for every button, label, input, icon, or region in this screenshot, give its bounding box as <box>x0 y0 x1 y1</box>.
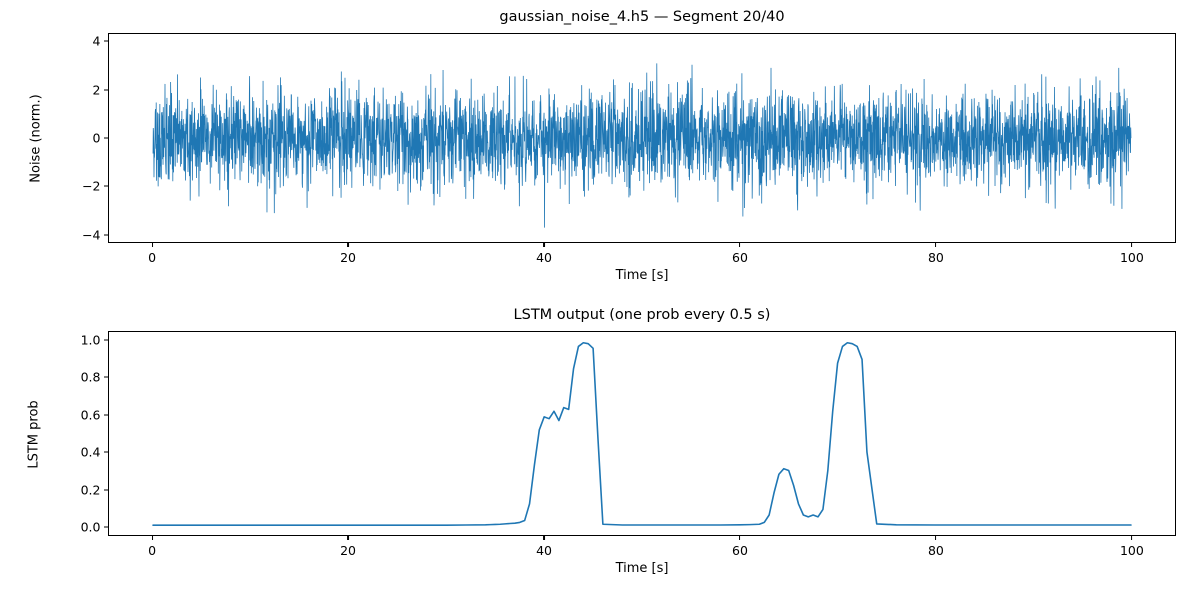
xtick-label: 0 <box>148 543 156 558</box>
ytick-mark <box>104 489 108 490</box>
ytick-0.4: 0.4 <box>81 445 108 460</box>
ytick-label: 0.0 <box>81 520 101 535</box>
xtick-80: 80 <box>928 536 944 558</box>
xtick-40: 40 <box>536 536 552 558</box>
xaxis-ticks-noise: 020406080100 <box>108 243 1176 267</box>
matplotlib-figure: gaussian_noise_4.h5 — Segment 20/40 0204… <box>0 0 1200 600</box>
xtick-0: 0 <box>148 536 156 558</box>
xtick-label: 80 <box>928 250 944 265</box>
ytick-0.6: 0.6 <box>81 407 108 422</box>
xtick-label: 100 <box>1120 250 1144 265</box>
xtick-20: 20 <box>340 536 356 558</box>
ytick-0: 0 <box>93 131 108 146</box>
ytick--2: −2 <box>82 179 108 194</box>
xtick-mark <box>739 536 740 540</box>
xtick-mark <box>152 243 153 247</box>
ytick-mark <box>104 137 108 138</box>
ytick-mark <box>104 452 108 453</box>
yaxis-label-prob: LSTM prob <box>27 355 42 515</box>
xtick-20: 20 <box>340 243 356 265</box>
ytick-0.2: 0.2 <box>81 482 108 497</box>
xtick-label: 40 <box>536 543 552 558</box>
ytick-mark <box>104 41 108 42</box>
xtick-mark <box>543 243 544 247</box>
ytick-label: 0 <box>93 131 101 146</box>
xtick-label: 80 <box>928 543 944 558</box>
ytick-label: 0.4 <box>81 445 101 460</box>
ytick-label: 2 <box>93 82 101 97</box>
axes-noise-signal: gaussian_noise_4.h5 — Segment 20/40 <box>108 33 1176 243</box>
xtick-80: 80 <box>928 243 944 265</box>
xaxis-label-noise: Time [s] <box>108 268 1176 283</box>
xaxis-label-prob: Time [s] <box>108 561 1176 576</box>
ytick-mark <box>104 339 108 340</box>
ytick-mark <box>104 234 108 235</box>
xtick-mark <box>348 243 349 247</box>
xtick-mark <box>543 536 544 540</box>
ytick-2: 2 <box>93 82 108 97</box>
xtick-label: 60 <box>732 250 748 265</box>
ytick-mark <box>104 414 108 415</box>
lstm-prob-trace <box>109 332 1175 535</box>
yaxis-label-noise: Noise (norm.) <box>29 59 44 219</box>
ytick-label: 0.6 <box>81 407 101 422</box>
ytick-label: 1.0 <box>81 332 101 347</box>
xtick-100: 100 <box>1120 536 1144 558</box>
xtick-label: 40 <box>536 250 552 265</box>
xtick-label: 60 <box>732 543 748 558</box>
noise-trace <box>109 34 1175 242</box>
xtick-0: 0 <box>148 243 156 265</box>
xtick-mark <box>1131 536 1132 540</box>
xtick-mark <box>739 243 740 247</box>
ytick-mark <box>104 377 108 378</box>
ytick-mark <box>104 89 108 90</box>
ytick--4: −4 <box>82 227 108 242</box>
xtick-60: 60 <box>732 243 748 265</box>
ytick-label: 4 <box>93 34 101 49</box>
axes-prob-title: LSTM output (one prob every 0.5 s) <box>109 307 1175 323</box>
ytick-mark <box>104 186 108 187</box>
xtick-100: 100 <box>1120 243 1144 265</box>
ytick-0.0: 0.0 <box>81 520 108 535</box>
yaxis-ticks-prob: 0.00.20.40.60.81.0 <box>48 331 108 536</box>
xtick-mark <box>1131 243 1132 247</box>
xtick-label: 20 <box>340 250 356 265</box>
xtick-60: 60 <box>732 536 748 558</box>
xaxis-ticks-prob: 020406080100 <box>108 536 1176 560</box>
xtick-mark <box>348 536 349 540</box>
xtick-mark <box>935 243 936 247</box>
xtick-40: 40 <box>536 243 552 265</box>
ytick-label: −2 <box>82 179 100 194</box>
axes-lstm-probability: LSTM output (one prob every 0.5 s) <box>108 331 1176 536</box>
xtick-mark <box>152 536 153 540</box>
xtick-label: 100 <box>1120 543 1144 558</box>
ytick-label: 0.2 <box>81 482 101 497</box>
ytick-4: 4 <box>93 34 108 49</box>
ytick-0.8: 0.8 <box>81 370 108 385</box>
xtick-label: 0 <box>148 250 156 265</box>
ytick-1.0: 1.0 <box>81 332 108 347</box>
xtick-mark <box>935 536 936 540</box>
ytick-label: −4 <box>82 227 100 242</box>
yaxis-ticks-noise: −4−2024 <box>68 33 108 243</box>
ytick-mark <box>104 526 108 527</box>
xtick-label: 20 <box>340 543 356 558</box>
axes-noise-title: gaussian_noise_4.h5 — Segment 20/40 <box>109 9 1175 25</box>
ytick-label: 0.8 <box>81 370 101 385</box>
